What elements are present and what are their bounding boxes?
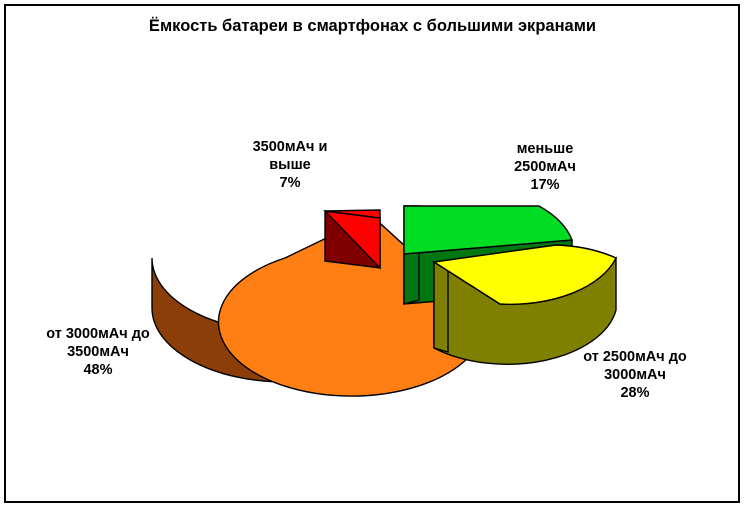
pie-label-green-line1: меньше (455, 140, 635, 158)
pie-label-green: меньше 2500мАч 17% (455, 140, 635, 194)
pie-label-red-percent: 7% (215, 174, 365, 192)
pie-label-red-line1: 3500мАч и (215, 138, 365, 156)
pie-label-orange-line1: от 3000мАч до (0, 325, 198, 343)
pie-label-green-line2: 2500мАч (455, 158, 635, 176)
chart-canvas: Ёмкость батареи в смартфонах с большими … (0, 0, 745, 508)
pie-label-orange: от 3000мАч до 3500мАч 48% (0, 325, 198, 379)
pie-label-orange-percent: 48% (0, 361, 198, 379)
pie-slice-yellow-left-face (434, 262, 448, 352)
pie-label-yellow: от 2500мАч до 3000мАч 28% (530, 348, 740, 402)
pie-label-yellow-line2: 3000мАч (530, 366, 740, 384)
pie-slice-yellow[interactable] (434, 245, 616, 364)
pie-label-green-percent: 17% (455, 176, 635, 194)
pie-slice-red[interactable] (325, 210, 380, 268)
pie-label-red-line2: выше (215, 156, 365, 174)
pie-chart-graphic (0, 0, 745, 508)
pie-label-yellow-line1: от 2500мАч до (530, 348, 740, 366)
pie-label-yellow-percent: 28% (530, 384, 740, 402)
pie-label-orange-line2: 3500мАч (0, 343, 198, 361)
pie-label-red: 3500мАч и выше 7% (215, 138, 365, 192)
